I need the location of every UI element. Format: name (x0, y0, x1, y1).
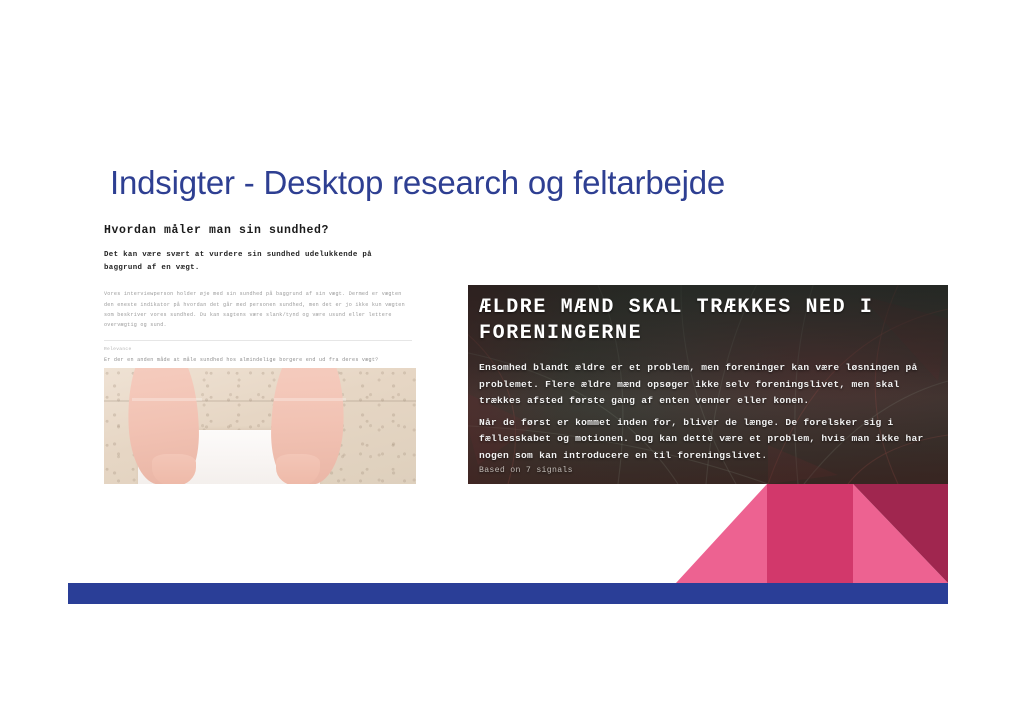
footer-bar (68, 583, 948, 604)
decorative-shapes (676, 484, 948, 583)
insight-card: Hvordan måler man sin sundhed? Det kan v… (104, 224, 416, 388)
decorative-triangles (676, 484, 948, 583)
insight-body-text: Vores interviewperson holder øje med sin… (104, 289, 406, 331)
signal-paragraph-1: Ensomhed blandt ældre er et problem, men… (479, 360, 934, 410)
relevance-value: Er der en anden måde at måle sundhed hos… (104, 356, 408, 366)
signal-count-label: Based on 7 signals (479, 466, 573, 475)
signal-paragraph-2: Når de først er kommet inden for, bliver… (479, 415, 934, 465)
pink-triangle-left (676, 484, 767, 583)
highlight-band-right (274, 398, 346, 401)
insight-heading: Hvordan måler man sin sundhed? (104, 224, 416, 238)
signal-headline: ÆLDRE MÆND SKAL TRÆKKES NED I FORENINGER… (479, 295, 934, 346)
right-foot (276, 454, 320, 484)
page-title: Indsigter - Desktop research og feltarbe… (110, 164, 725, 202)
signal-card: ÆLDRE MÆND SKAL TRÆKKES NED I FORENINGER… (468, 285, 948, 484)
relevance-label: Relevance (104, 347, 416, 352)
bathroom-scale-photo (104, 368, 416, 484)
magenta-rectangle (767, 484, 853, 583)
insight-subheading: Det kan være svært at vurdere sin sundhe… (104, 249, 404, 276)
divider (104, 340, 412, 341)
highlight-band-left (132, 398, 202, 401)
left-foot (152, 454, 196, 484)
